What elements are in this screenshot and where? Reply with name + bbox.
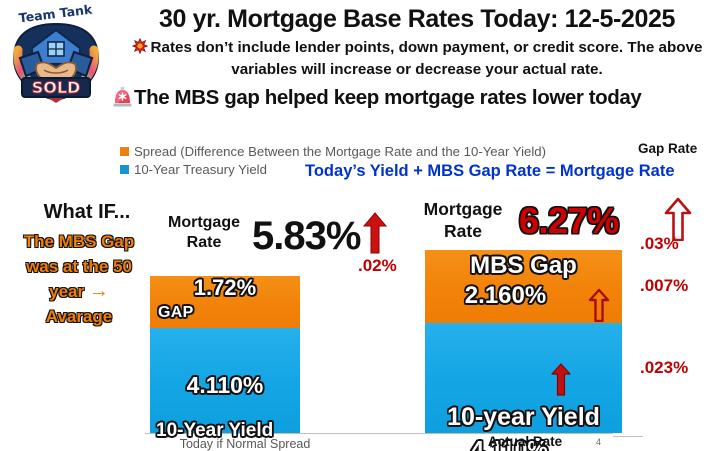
bar-segment-spread-left[interactable]: 1.72% GAP xyxy=(150,276,300,328)
what-if-line-4: Avarage xyxy=(46,307,112,326)
bar-actual-rate[interactable]: MBS Gap 2.160% 10-year Yield 4.110% xyxy=(425,250,622,433)
bar-segment-yield-right[interactable]: 10-year Yield 4.110% xyxy=(425,323,622,433)
right-gap-up-arrow-icon xyxy=(588,288,610,327)
page-title: 30 yr. Mortgage Base Rates Today: 12-5-2… xyxy=(112,4,722,34)
legend-label-yield: 10-Year Treasury Yield xyxy=(134,162,267,177)
right-yield-label: 10-year Yield xyxy=(425,403,622,432)
left-rate-value: 5.83% xyxy=(252,214,360,259)
right-gap-value: 2.160% xyxy=(407,282,604,310)
bar-today-if-normal-spread[interactable]: 1.72% GAP 4.110% 10-Year Yield xyxy=(150,276,300,433)
right-mortgage-rate-label: Mortgage Rate xyxy=(408,198,518,242)
slide-number: 4 xyxy=(596,437,601,447)
left-category-label: Today if Normal Spread xyxy=(165,437,325,451)
left-mr-line1: Mortgage xyxy=(168,214,240,231)
left-gap-tag: GAP xyxy=(158,304,194,322)
rate-formula-text: Today’s Yield + MBS Gap Rate = Mortgage … xyxy=(305,162,675,181)
headline-label: The MBS gap helped keep mortgage rates l… xyxy=(134,86,641,109)
left-mr-line2: Rate xyxy=(187,234,222,251)
right-category-label: Actual Rate xyxy=(450,434,600,449)
legend-swatch-spread xyxy=(120,147,129,156)
what-if-line-3: year xyxy=(49,282,84,301)
right-total-delta: .03% xyxy=(640,234,679,254)
siren-light-icon xyxy=(112,85,133,113)
gap-rate-label: Gap Rate xyxy=(638,141,697,156)
right-mr-line2: Rate xyxy=(444,221,482,241)
right-yield-up-arrow-icon xyxy=(550,362,572,401)
left-yield-value: 4.110% xyxy=(150,372,300,399)
team-tank-sold-logo: SOLD Team Tank xyxy=(4,2,108,106)
right-gap-label: MBS Gap xyxy=(425,252,622,280)
left-rate-delta: .02% xyxy=(358,256,397,276)
left-mortgage-rate-label: Mortgage Rate xyxy=(158,213,250,253)
logo-team-text: Team Tank xyxy=(18,2,94,25)
left-gap-value: 1.72% xyxy=(150,275,300,301)
what-if-line-1: The MBS Gap xyxy=(24,232,135,251)
what-if-arrow-icon: → xyxy=(89,280,109,302)
left-rate-up-arrow-icon xyxy=(362,212,388,259)
collision-star-icon xyxy=(132,38,148,60)
right-rate-value: 6.27% xyxy=(519,200,619,242)
legend-label-spread: Spread (Difference Between the Mortgage … xyxy=(134,144,546,159)
chart-axis-line-extension xyxy=(613,436,643,437)
logo-sold-text: SOLD xyxy=(32,78,81,97)
right-mr-line1: Mortgage xyxy=(424,199,503,219)
legend-swatch-yield xyxy=(120,165,129,174)
right-yield-delta: .023% xyxy=(640,358,688,378)
headline-row: The MBS gap helped keep mortgage rates l… xyxy=(112,85,712,113)
bar-segment-yield-left[interactable]: 4.110% 10-Year Yield xyxy=(150,328,300,433)
what-if-heading: What IF... xyxy=(22,201,152,224)
what-if-note: The MBS Gap was at the 50 year → Avarage xyxy=(6,229,152,329)
disclaimer-text: Rates don’t include lender points, down … xyxy=(128,38,706,80)
slide-root: SOLD Team Tank 30 yr. Mortgage Base Rate… xyxy=(0,0,725,451)
legend-item-spread[interactable]: Spread (Difference Between the Mortgage … xyxy=(120,143,546,160)
what-if-line-2: was at the 50 xyxy=(26,257,132,276)
disclaimer-label: Rates don’t include lender points, down … xyxy=(151,39,703,78)
right-gap-delta: .007% xyxy=(640,276,688,296)
